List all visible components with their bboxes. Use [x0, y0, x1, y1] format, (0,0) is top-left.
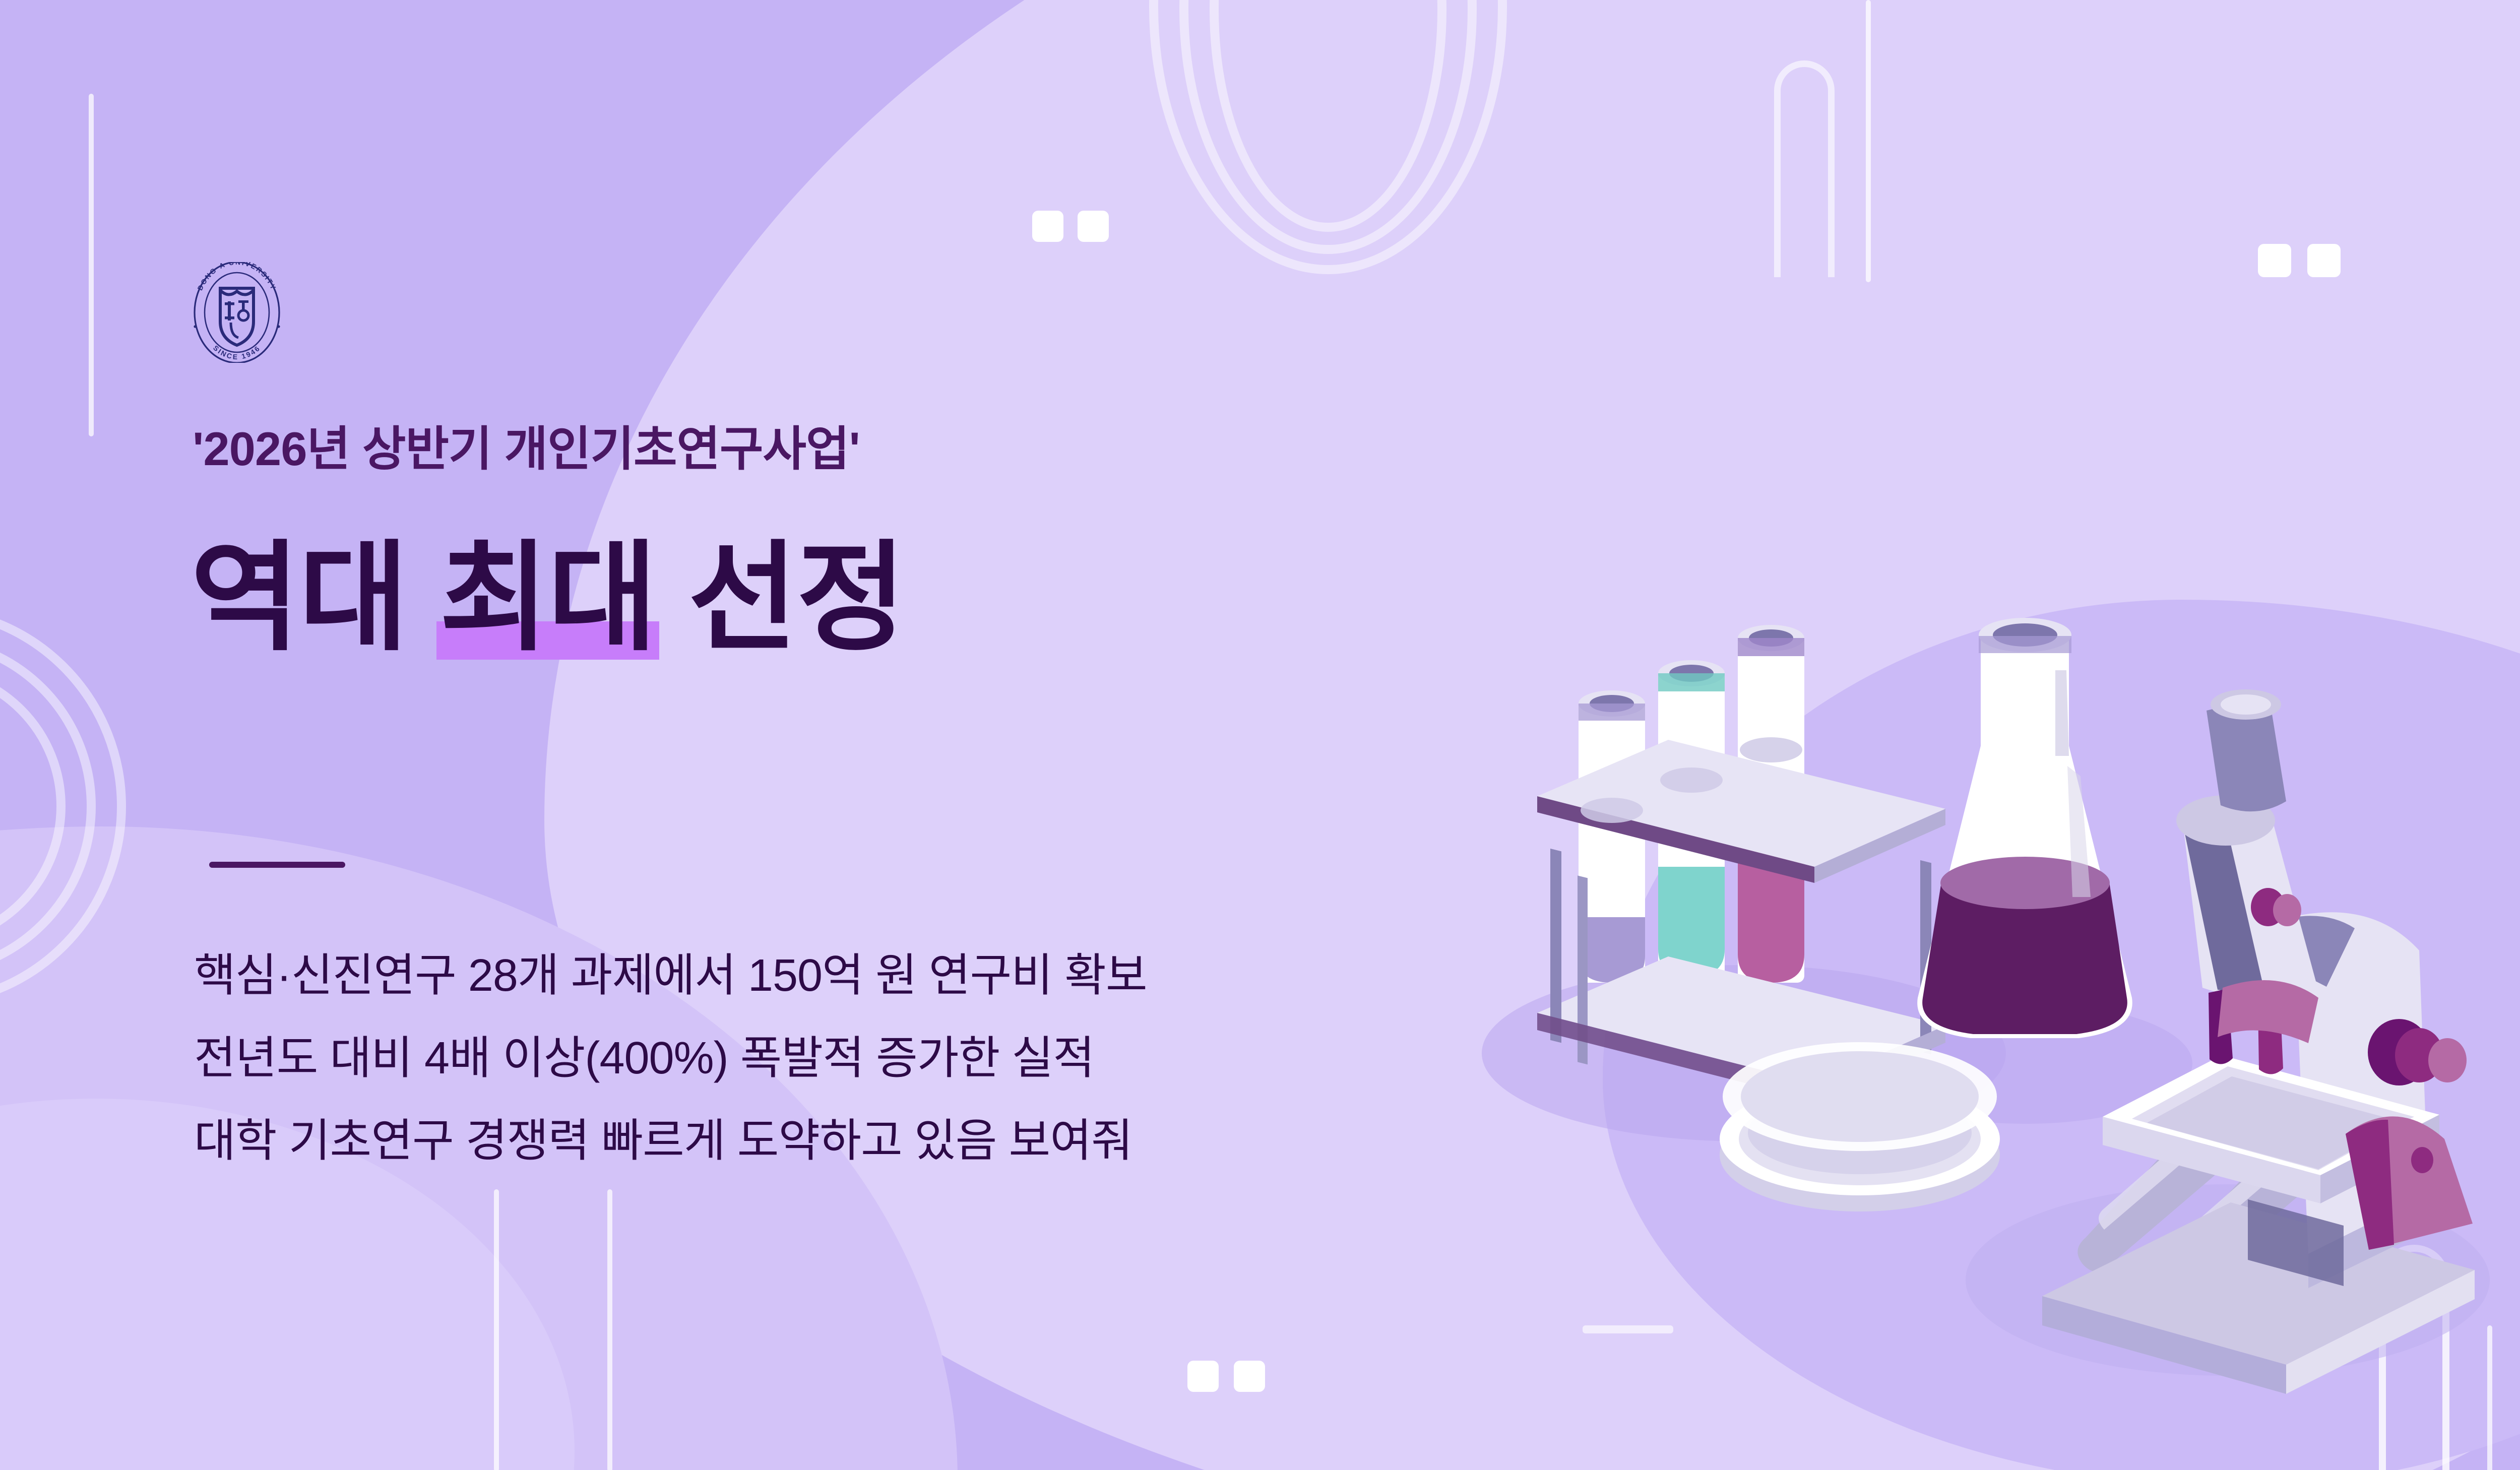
headline-wrapper: 역대 최대 선정 [191, 534, 905, 663]
erlenmeyer-flask [1917, 618, 2132, 1038]
headline-part-2: 선정 [656, 532, 905, 665]
section-divider [209, 862, 345, 868]
headline-part-1: 역대 [191, 532, 439, 665]
test-tube-rack [1537, 625, 1945, 1101]
petri-dish [1720, 1042, 2000, 1211]
coarse-focus-knob [2368, 1019, 2467, 1085]
lab-scene-svg [1462, 544, 2520, 1401]
fine-focus-knob [2251, 888, 2301, 926]
eyebrow-text: '2026년 상반기 개인기초연구사업' [193, 411, 860, 479]
university-logo: DONG·A UNIVERSITY SINCE 1946 [181, 262, 323, 363]
banner-content: DONG·A UNIVERSITY SINCE 1946 '2026년 상반기 … [0, 0, 2520, 1470]
body-line-2: 전년도 대비 4배 이상(400%) 폭발적 증가한 실적 [194, 1017, 1147, 1100]
promotional-banner: DONG·A UNIVERSITY SINCE 1946 '2026년 상반기 … [0, 0, 2520, 1470]
body-line-3: 대학 기초연구 경쟁력 빠르게 도약하고 있음 보여줘 [194, 1100, 1147, 1183]
headline: 역대 최대 선정 [191, 534, 905, 663]
body-line-1: 핵심·신진연구 28개 과제에서 150억 원 연구비 확보 [194, 935, 1147, 1017]
laboratory-illustration [1462, 544, 2520, 1401]
headline-highlighted: 최대 [439, 534, 656, 663]
university-emblem-icon: DONG·A UNIVERSITY SINCE 1946 [181, 262, 323, 363]
body-text-block: 핵심·신진연구 28개 과제에서 150억 원 연구비 확보 전년도 대비 4배… [194, 935, 1147, 1182]
